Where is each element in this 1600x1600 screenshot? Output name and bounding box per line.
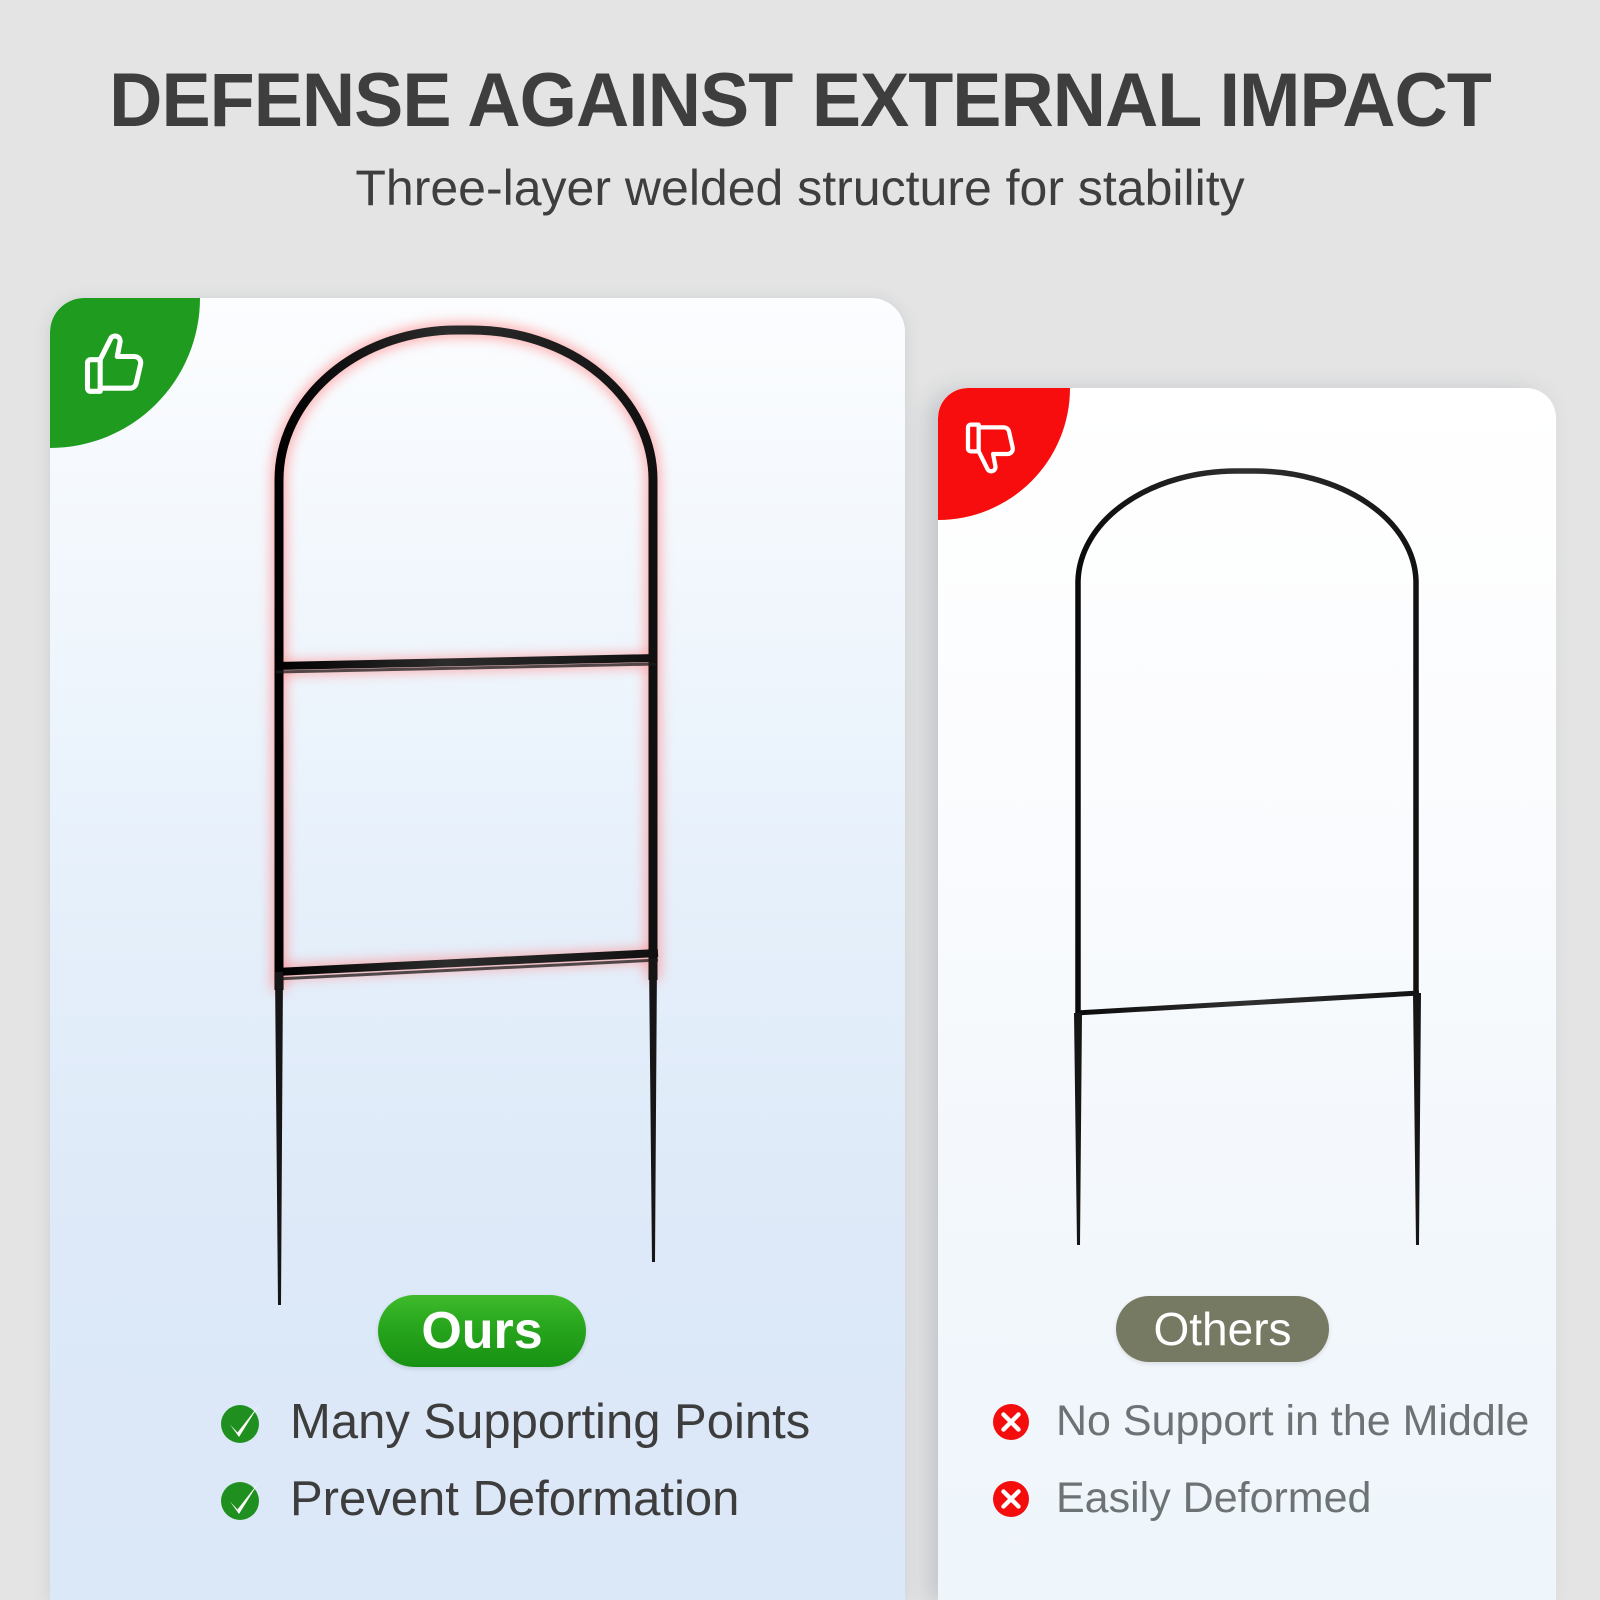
others-bottom-bar [1076,993,1419,1013]
others-stake-right [1413,993,1421,1245]
others-feature-list: No Support in the Middle Easily Deformed [990,1400,1529,1554]
list-item: Many Supporting Points [218,1398,810,1447]
ours-corner-badge [50,298,200,448]
ours-label-text: Ours [421,1301,542,1361]
cross-circle-icon [990,1401,1032,1443]
list-item: Easily Deformed [990,1477,1529,1520]
cross-circle-icon [990,1478,1032,1520]
list-item: Prevent Deformation [218,1475,810,1524]
others-arch-frame [1078,471,1416,1015]
check-circle-icon [218,1477,264,1523]
others-fence-illustration [1040,455,1460,1245]
list-item: No Support in the Middle [990,1400,1529,1443]
thumbs-down-icon [960,414,1024,478]
list-item-label: No Support in the Middle [1056,1400,1529,1443]
others-label-text: Others [1153,1302,1291,1356]
ours-vertical-bars [340,332,590,972]
ours-feature-list: Many Supporting Points Prevent Deformati… [218,1398,810,1552]
infographic-canvas: DEFENSE AGAINST EXTERNAL IMPACT Three-la… [0,0,1600,1600]
ours-label-pill: Ours [378,1295,586,1367]
list-item-label: Prevent Deformation [290,1475,739,1524]
ours-stake-left [275,972,283,1305]
list-item-label: Easily Deformed [1056,1477,1371,1520]
others-vertical-bars [1137,475,1381,1007]
ours-fence-svg [196,300,726,1330]
page-title: DEFENSE AGAINST EXTERNAL IMPACT [24,62,1576,140]
header: DEFENSE AGAINST EXTERNAL IMPACT Three-la… [0,0,1600,214]
others-label-pill: Others [1116,1296,1329,1362]
page-subtitle: Three-layer welded structure for stabili… [0,162,1600,215]
list-item-label: Many Supporting Points [290,1398,810,1447]
thumbs-up-icon [78,328,154,404]
ours-fence-illustration [196,300,726,1330]
ours-stake-right [649,960,657,1262]
others-fence-svg [1040,455,1460,1245]
check-circle-icon [218,1400,264,1446]
others-stake-left [1074,1013,1082,1245]
